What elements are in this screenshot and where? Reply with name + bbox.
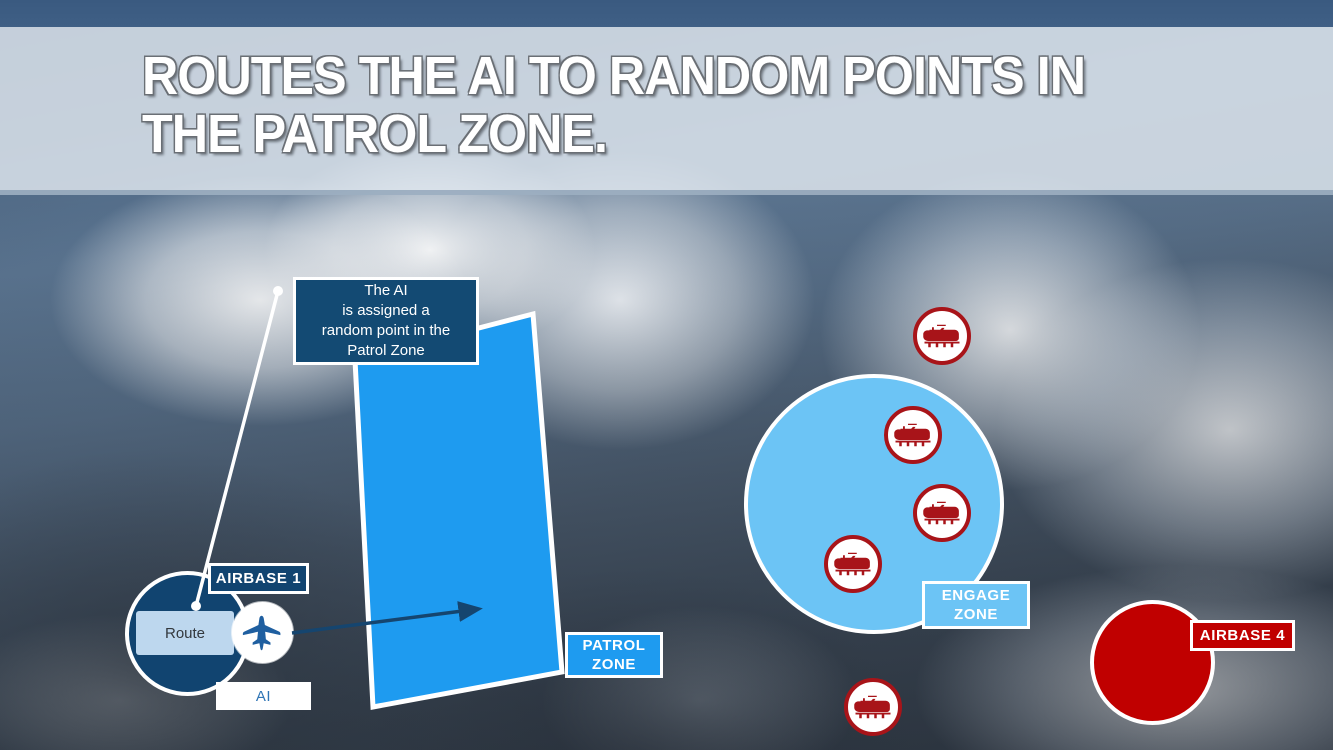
armored-vehicle-icon[interactable] <box>884 406 942 464</box>
armored-vehicle-icon[interactable] <box>913 307 971 365</box>
armored-vehicle-icon[interactable] <box>844 678 902 736</box>
label-engage-zone[interactable]: ENGAGE ZONE <box>922 581 1030 629</box>
label-ai[interactable]: AI <box>216 682 311 710</box>
fighter-jet-icon[interactable] <box>232 602 293 663</box>
callout-box: The AI is assigned a random point in the… <box>293 277 479 365</box>
armored-vehicle-icon[interactable] <box>913 484 971 542</box>
label-airbase-4[interactable]: AIRBASE 4 <box>1190 620 1295 651</box>
label-airbase-1[interactable]: AIRBASE 1 <box>208 563 309 594</box>
label-patrol-zone[interactable]: PATROL ZONE <box>565 632 663 678</box>
route-chip[interactable]: Route <box>136 611 234 655</box>
slide-canvas: ROUTES THE AI TO RANDOM POINTS IN THE PA… <box>0 0 1333 750</box>
title-band-underline <box>0 190 1333 195</box>
armored-vehicle-icon[interactable] <box>824 535 882 593</box>
top-accent-bar <box>0 0 1333 27</box>
page-title: ROUTES THE AI TO RANDOM POINTS IN THE PA… <box>142 47 1128 163</box>
airbase-4-shape[interactable] <box>1090 600 1215 725</box>
